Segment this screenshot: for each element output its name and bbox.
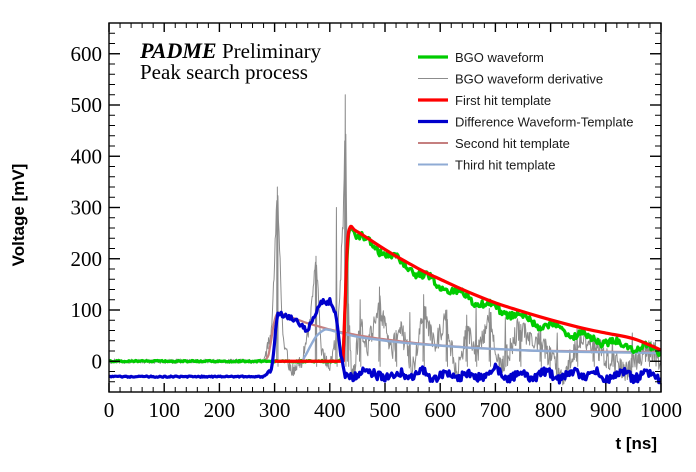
y-tick-label: 200 xyxy=(71,247,103,271)
legend-label: BGO waveform xyxy=(455,50,544,65)
legend-label: First hit template xyxy=(455,93,551,108)
chart-figure: 0100200300400500600700800900100001002003… xyxy=(0,0,696,472)
y-tick-label: 0 xyxy=(92,349,103,373)
y-tick-label: 400 xyxy=(71,144,103,168)
y-tick-label: 100 xyxy=(71,298,103,322)
x-tick-label: 800 xyxy=(535,398,567,422)
x-tick-label: 500 xyxy=(369,398,401,422)
x-tick-label: 600 xyxy=(424,398,456,422)
y-tick-label: 300 xyxy=(71,196,103,220)
x-tick-label: 400 xyxy=(314,398,346,422)
legend-label: Third hit template xyxy=(455,158,555,173)
y-tick-label: 600 xyxy=(71,42,103,66)
y-axis-title: Voltage [mV] xyxy=(9,164,28,267)
x-tick-label: 1000 xyxy=(640,398,682,422)
x-tick-label: 0 xyxy=(104,398,115,422)
x-axis-title: t [ns] xyxy=(615,434,657,453)
x-tick-label: 100 xyxy=(148,398,180,422)
x-tick-label: 200 xyxy=(204,398,236,422)
x-tick-label: 300 xyxy=(259,398,291,422)
subtitle-label: Peak search process xyxy=(140,60,308,84)
legend-label: Difference Waveform-Template xyxy=(455,115,633,130)
x-tick-label: 900 xyxy=(590,398,622,422)
legend-label: BGO waveform derivative xyxy=(455,72,603,87)
x-tick-label: 700 xyxy=(480,398,512,422)
y-tick-label: 500 xyxy=(71,93,103,117)
chart-canvas: 0100200300400500600700800900100001002003… xyxy=(0,0,696,472)
legend-label: Second hit template xyxy=(455,136,570,151)
